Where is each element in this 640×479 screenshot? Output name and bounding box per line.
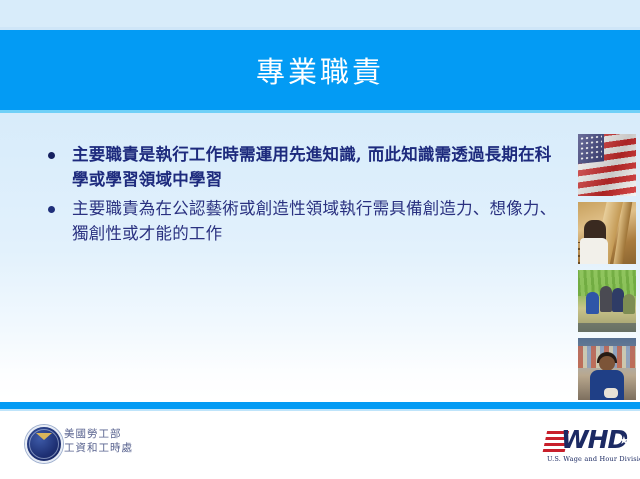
footer-divider <box>0 402 640 409</box>
flag-shading <box>578 134 636 196</box>
worker-apron <box>580 238 608 264</box>
us-flag-photo <box>578 134 636 196</box>
footer-divider-soft <box>0 409 640 411</box>
footer-agency-line2: 工資和工時處 <box>64 441 133 455</box>
bullet-item-2: 主要職責為在公認藝術或創造性領域執行需具備創造力、想像力、獨創性或才能的工作 <box>42 196 562 246</box>
photo-strip <box>578 134 636 406</box>
slide-canvas: 專業職責 主要職責是執行工作時需運用先進知識, 而此知識需透過長期在科學或學習領… <box>0 0 640 479</box>
top-background-band <box>0 0 640 30</box>
whd-wordmark: WHD <box>561 427 627 453</box>
footer-agency-line1: 美國勞工部 <box>64 427 133 441</box>
shield-icon <box>38 441 51 453</box>
title-banner-underline <box>0 110 640 113</box>
construction-worker-photo <box>578 202 636 264</box>
farm-worker-figure <box>623 294 635 314</box>
bullet-dot-icon <box>48 206 55 213</box>
farm-workers-photo <box>578 270 636 332</box>
whd-logo: WHD ★ U.S. Wage and Hour Division <box>545 427 637 469</box>
bullet-text-2: 主要職責為在公認藝術或創造性領域執行需具備創造力、想像力、獨創性或才能的工作 <box>72 196 562 246</box>
footer-agency-text: 美國勞工部 工資和工時處 <box>64 427 133 455</box>
worker-hands <box>604 388 618 398</box>
bullet-item-1: 主要職責是執行工作時需運用先進知識, 而此知識需透過長期在科學或學習領域中學習 <box>42 142 562 192</box>
farm-worker-figure <box>586 292 599 314</box>
photo-top-band <box>578 338 636 346</box>
star-icon: ★ <box>619 436 629 447</box>
farm-worker-figure <box>600 286 612 312</box>
bullet-dot-icon <box>48 152 55 159</box>
retail-worker-photo <box>578 338 636 400</box>
worker-head <box>599 356 615 371</box>
eagle-icon <box>36 433 52 440</box>
bullet-text-1: 主要職責是執行工作時需運用先進知識, 而此知識需透過長期在科學或學習領域中學習 <box>72 142 562 192</box>
us-department-of-labor-seal <box>25 425 63 463</box>
slide-title: 專業職責 <box>0 52 640 92</box>
body-content: 主要職責是執行工作時需運用先進知識, 而此知識需透過長期在科學或學習領域中學習 … <box>42 142 562 250</box>
photo-caption-band <box>578 323 636 332</box>
whd-tagline: U.S. Wage and Hour Division <box>547 455 639 463</box>
